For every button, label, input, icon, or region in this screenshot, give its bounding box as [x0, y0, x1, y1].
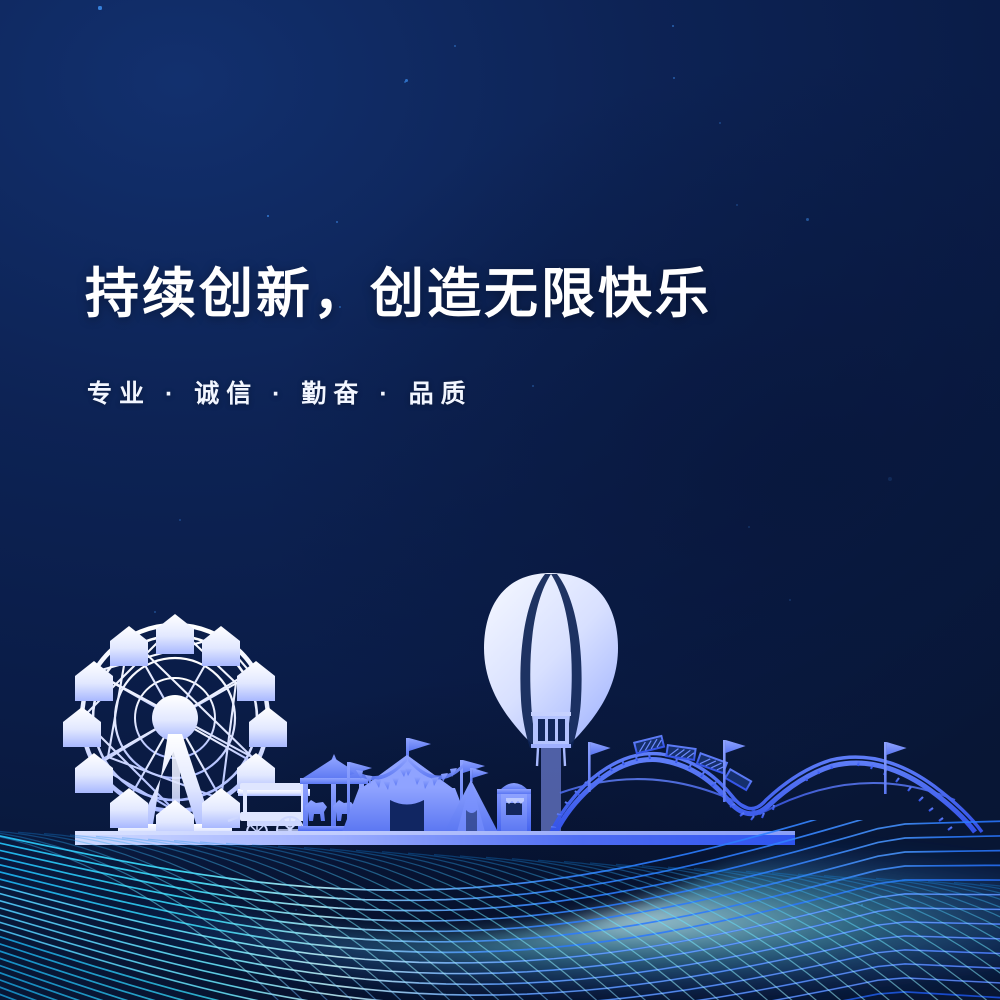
page-title: 持续创新，创造无限快乐 [85, 264, 712, 324]
banner-root: 持续创新，创造无限快乐 专业 · 诚信 · 勤奋 · 品质 [0, 0, 1000, 1000]
page-subtitle: 专业 · 诚信 · 勤奋 · 品质 [87, 374, 473, 410]
glowing-mesh-wave [0, 0, 1000, 1000]
